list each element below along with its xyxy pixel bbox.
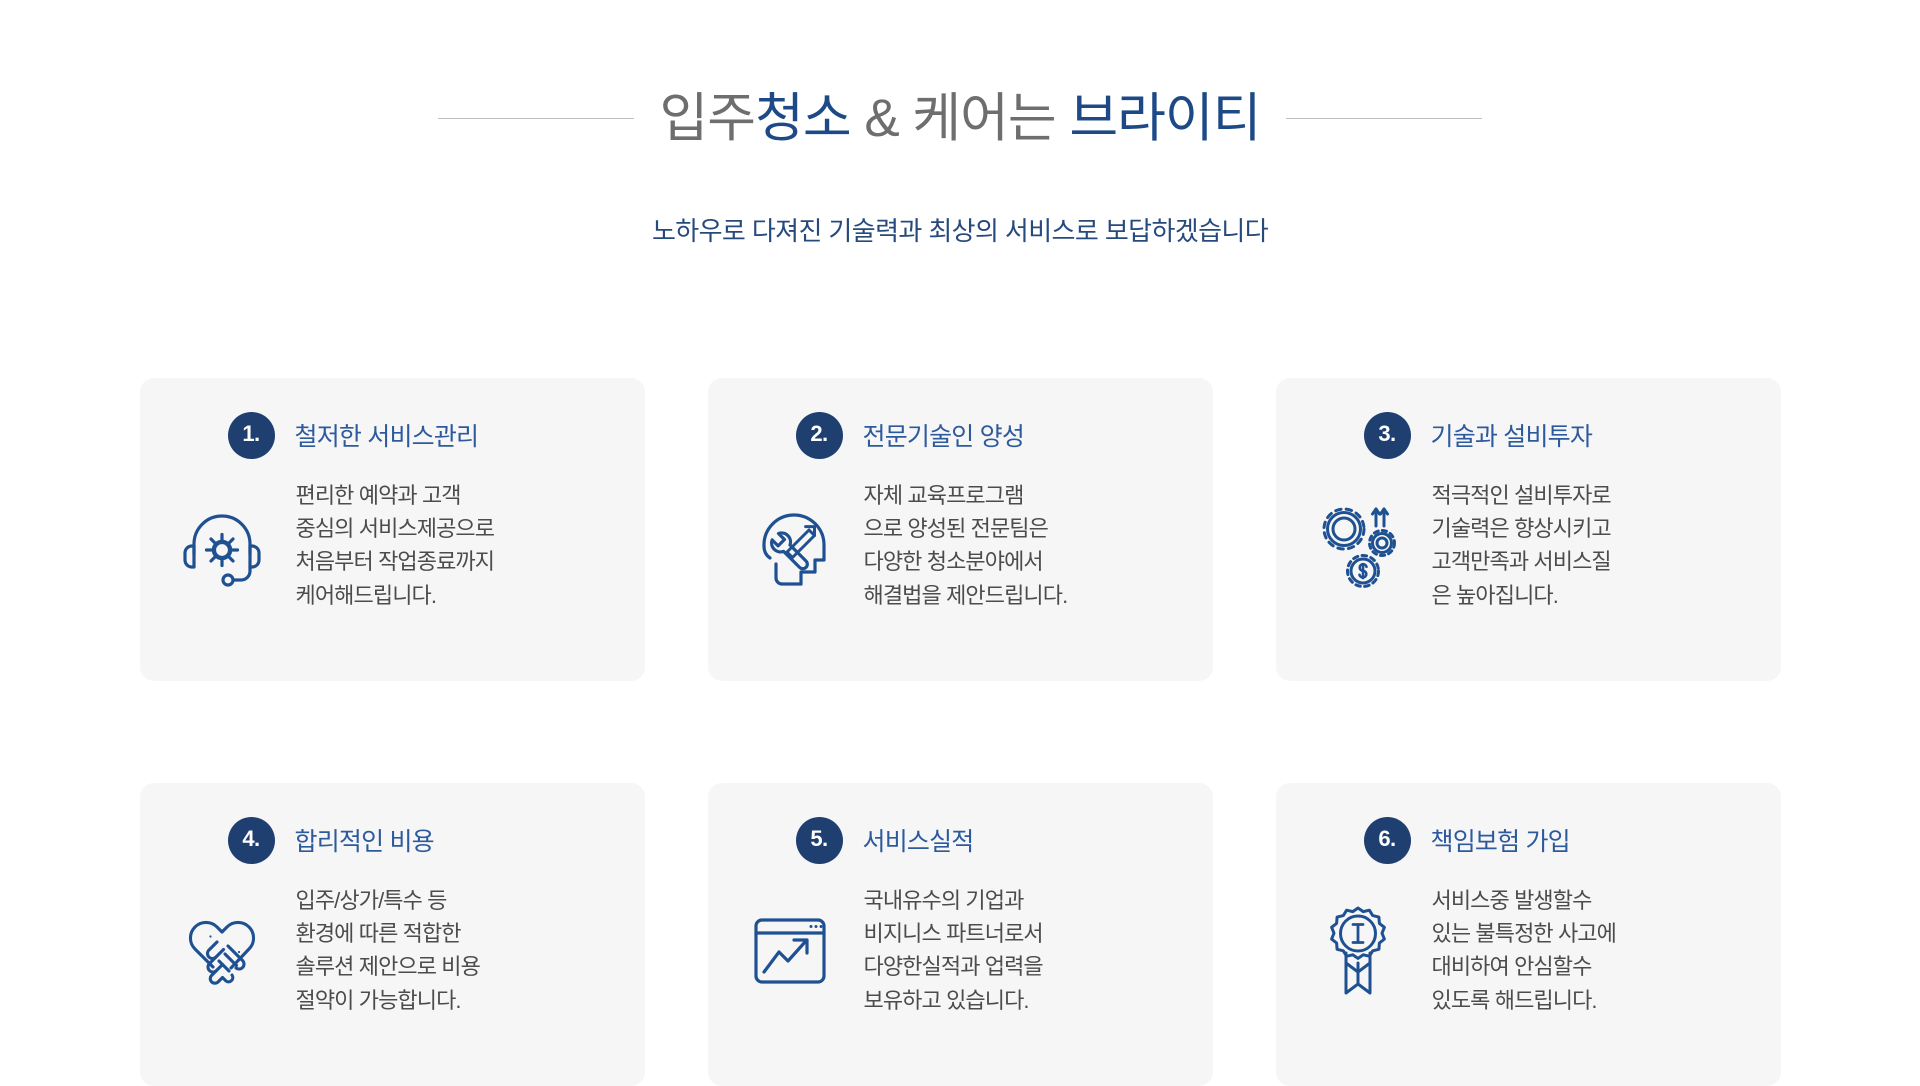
feature-card: 3. 기술과 설비투자 (1276, 378, 1781, 681)
card-description: 서비스중 발생할수 있는 불특정한 사고에 대비하여 안심할수 있도록 해드립니… (1432, 882, 1617, 1018)
headset-gear-icon (170, 477, 274, 589)
card-number-badge: 4. (228, 817, 275, 864)
card-body: 서비스중 발생할수 있는 불특정한 사고에 대비하여 안심할수 있도록 해드립니… (1306, 882, 1751, 1018)
card-title: 서비스실적 (863, 822, 974, 858)
section-header: 입주청소 & 케어는 브라이티 노하우로 다져진 기술력과 최상의 서비스로 보… (0, 0, 1920, 274)
card-number-badge: 1. (228, 412, 275, 459)
title-segment-3: & 케어는 (851, 89, 1070, 148)
card-title: 기술과 설비투자 (1431, 417, 1593, 453)
card-number-badge: 2. (796, 412, 843, 459)
title-row: 입주청소 & 케어는 브라이티 (340, 52, 1580, 186)
head-tools-icon (738, 477, 842, 589)
card-header: 4. 합리적인 비용 (170, 817, 615, 864)
card-header: 2. 전문기술인 양성 (738, 412, 1183, 459)
rule-left-divider (438, 118, 634, 119)
card-number-badge: 5. (796, 817, 843, 864)
card-header: 6. 책임보험 가입 (1306, 817, 1751, 864)
promo-section: 입주청소 & 케어는 브라이티 노하우로 다져진 기술력과 최상의 서비스로 보… (0, 0, 1920, 1080)
award-ribbon-icon (1306, 882, 1410, 994)
gears-growth-icon (1306, 477, 1410, 589)
card-description: 적극적인 설비투자로 기술력은 향상시키고 고객만족과 서비스질 은 높아집니다… (1432, 477, 1611, 613)
feature-card-grid: 1. 철저한 서비스관리 (140, 378, 1781, 1086)
card-body: 국내유수의 기업과 비지니스 파트너로서 다양한실적과 업력을 보유하고 있습니… (738, 882, 1183, 1018)
page-subtitle: 노하우로 다져진 기술력과 최상의 서비스로 보답하겠습니다 (652, 211, 1268, 248)
card-header: 1. 철저한 서비스관리 (170, 412, 615, 459)
card-description: 편리한 예약과 고객 중심의 서비스제공으로 처음부터 작업종료까지 케어해드립… (296, 477, 495, 613)
card-title: 철저한 서비스관리 (295, 417, 479, 453)
card-title: 책임보험 가입 (1431, 822, 1570, 858)
feature-card: 4. 합리적인 비용 (140, 783, 645, 1086)
card-header: 3. 기술과 설비투자 (1306, 412, 1751, 459)
card-description: 입주/상가/특수 등 환경에 따른 적합한 솔루션 제안으로 비용 절약이 가능… (296, 882, 481, 1018)
page-title: 입주청소 & 케어는 브라이티 (660, 88, 1261, 151)
card-body: 자체 교육프로그램 으로 양성된 전문팀은 다양한 청소분야에서 해결법을 제안… (738, 477, 1183, 613)
chart-window-icon (738, 882, 842, 994)
card-number-badge: 6. (1364, 817, 1411, 864)
title-segment-4: 브라이티 (1069, 89, 1260, 148)
card-body: 입주/상가/특수 등 환경에 따른 적합한 솔루션 제안으로 비용 절약이 가능… (170, 882, 615, 1018)
handshake-heart-icon (170, 882, 274, 994)
card-title: 합리적인 비용 (295, 822, 434, 858)
card-description: 자체 교육프로그램 으로 양성된 전문팀은 다양한 청소분야에서 해결법을 제안… (864, 477, 1068, 613)
feature-card: 1. 철저한 서비스관리 (140, 378, 645, 681)
card-body: 적극적인 설비투자로 기술력은 향상시키고 고객만족과 서비스질 은 높아집니다… (1306, 477, 1751, 613)
card-number-badge: 3. (1364, 412, 1411, 459)
rule-right-divider (1286, 118, 1482, 119)
feature-card: 2. 전문기술인 양성 자체 교육프로그램 으로 양성된 전문팀은 다양한 청소… (708, 378, 1213, 681)
card-body: 편리한 예약과 고객 중심의 서비스제공으로 처음부터 작업종료까지 케어해드립… (170, 477, 615, 613)
feature-card: 5. 서비스실적 국내유수의 기업과 비지니스 파트너로서 다양한실적과 업력 (708, 783, 1213, 1086)
title-segment-1: 입주 (660, 89, 756, 148)
card-description: 국내유수의 기업과 비지니스 파트너로서 다양한실적과 업력을 보유하고 있습니… (864, 882, 1043, 1018)
feature-card: 6. 책임보험 가입 서비스중 발생할수 있는 불특정한 사고에 대비하여 안심… (1276, 783, 1781, 1086)
title-segment-2: 청소 (755, 89, 851, 148)
card-header: 5. 서비스실적 (738, 817, 1183, 864)
card-title: 전문기술인 양성 (863, 417, 1025, 453)
